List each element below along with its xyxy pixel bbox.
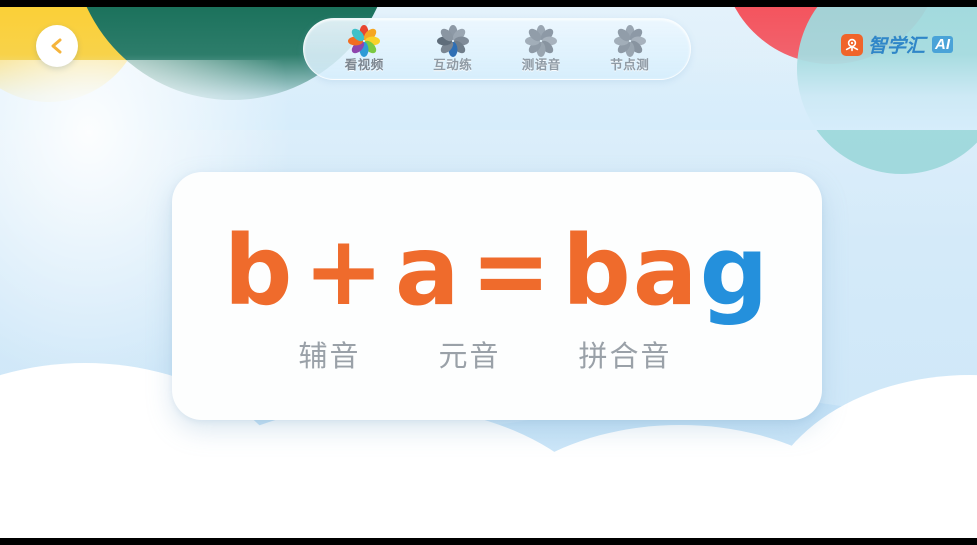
letterbox-top bbox=[0, 0, 977, 7]
tab-watch-video[interactable]: 看视频 bbox=[326, 26, 402, 73]
tab-voice-test[interactable]: 测语音 bbox=[503, 26, 579, 73]
flower-muted-icon bbox=[437, 26, 468, 57]
lesson-card: b+a=bag 辅音 元音 拼合音 bbox=[172, 172, 822, 420]
formula-vowel: a bbox=[395, 215, 462, 327]
tab-label-voice-test: 测语音 bbox=[522, 58, 561, 73]
formula-legend: 辅音 元音 拼合音 bbox=[172, 333, 822, 375]
brand-name: 智学汇 bbox=[868, 31, 925, 58]
blend-label: 拼合音 bbox=[579, 333, 672, 375]
chevron-left-icon bbox=[49, 37, 65, 55]
consonant-label: 辅音 bbox=[298, 333, 360, 375]
flower-color-icon bbox=[349, 26, 380, 57]
phonics-formula: b+a=bag bbox=[224, 223, 771, 319]
flower-grey-icon bbox=[614, 26, 645, 57]
owl-mark-icon bbox=[841, 34, 863, 56]
formula-blend-prefix: ba bbox=[562, 215, 700, 327]
tab-label-node-test: 节点测 bbox=[610, 58, 649, 73]
mode-tabbar: 看视频 互动练 测语音 节点测 bbox=[303, 18, 691, 80]
vowel-label: 元音 bbox=[438, 333, 500, 375]
tab-interactive-practice[interactable]: 互动练 bbox=[415, 26, 491, 73]
formula-blend-suffix: g bbox=[700, 215, 771, 327]
formula-equals: = bbox=[471, 215, 553, 327]
formula-plus: + bbox=[303, 215, 385, 327]
formula-consonant: b bbox=[224, 215, 295, 327]
app-root: 看视频 互动练 测语音 节点测 bbox=[0, 0, 977, 545]
back-button[interactable] bbox=[36, 25, 78, 67]
brand-ai-badge: AI bbox=[932, 36, 953, 53]
tab-label-watch-video: 看视频 bbox=[345, 58, 384, 73]
tab-node-test[interactable]: 节点测 bbox=[592, 26, 668, 73]
flower-grey-icon bbox=[526, 26, 557, 57]
tab-label-interactive-practice: 互动练 bbox=[433, 58, 472, 73]
brand-logo: 智学汇 AI bbox=[841, 31, 953, 58]
letterbox-bottom bbox=[0, 538, 977, 545]
